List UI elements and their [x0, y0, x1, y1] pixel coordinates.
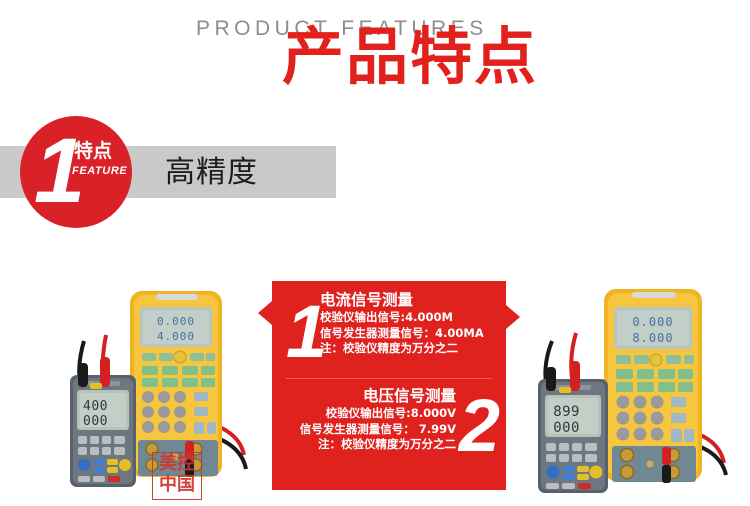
svg-text:0.000: 0.000: [157, 315, 195, 328]
svg-text:000: 000: [553, 420, 580, 436]
product-features-page: PRODUCT FEATURES 产品特点 高精度 1 特点 FEATURE 0…: [0, 0, 750, 503]
section-line-1-2: 信号发生器测量信号：4.00MA: [320, 326, 502, 341]
product-photo-right: 0.000 8.000: [508, 283, 736, 501]
feature-badge: 1 特点 FEATURE: [20, 116, 132, 228]
svg-text:000: 000: [83, 414, 108, 429]
svg-text:4.000: 4.000: [157, 330, 195, 343]
svg-text:0.000: 0.000: [632, 315, 673, 329]
feature-badge-label-cn: 特点: [74, 142, 112, 161]
panel-arrow-left-icon: [258, 301, 272, 325]
section-line-1-3: 注：校验仪精度为万分之二: [320, 341, 502, 356]
watermark-line2: 中国: [153, 474, 201, 495]
feature-badge-label-en: FEATURE: [72, 166, 127, 177]
watermark-line1: 美控: [153, 453, 201, 474]
section-title-2: 电压信号测量: [276, 387, 456, 406]
panel-divider: [286, 378, 492, 379]
section-title-1: 电流信号测量: [320, 291, 502, 310]
section-line-2-2: 信号发生器测量信号： 7.99V: [276, 422, 456, 437]
section-line-2-3: 注：校验仪精度为万分之二: [276, 437, 456, 452]
feature-detail-panel: 1 电流信号测量 校验仪输出信号:4.000M 信号发生器测量信号：4.00MA…: [272, 281, 506, 490]
voltage-measurement-photo-svg: 0.000 8.000: [508, 283, 736, 501]
section-text-1: 电流信号测量 校验仪输出信号:4.000M 信号发生器测量信号：4.00MA 注…: [320, 291, 502, 356]
watermark: 美控 中国: [152, 452, 202, 500]
section-line-2-1: 校验仪输出信号:8.000V: [276, 406, 456, 421]
svg-text:899: 899: [553, 404, 580, 420]
svg-text:8.000: 8.000: [632, 331, 673, 345]
svg-text:400: 400: [83, 399, 108, 414]
section-number-2: 2: [459, 389, 500, 463]
section-text-2: 电压信号测量 校验仪输出信号:8.000V 信号发生器测量信号： 7.99V 注…: [276, 387, 456, 452]
section-line-1-1: 校验仪输出信号:4.000M: [320, 310, 502, 325]
header-chinese-title: 产品特点: [282, 26, 538, 88]
page-header: PRODUCT FEATURES 产品特点: [0, 0, 750, 110]
feature-bar-title: 高精度: [165, 152, 258, 194]
